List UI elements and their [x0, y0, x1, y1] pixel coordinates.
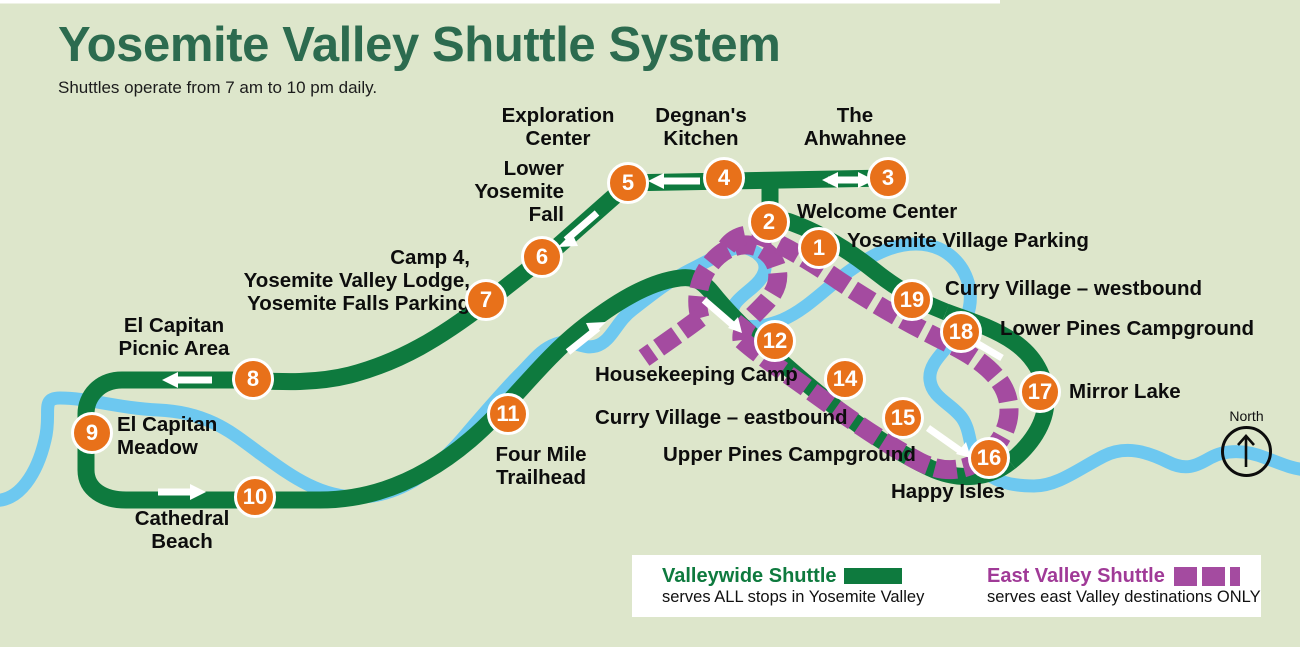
- legend-east-valley-swatch: [1174, 567, 1240, 586]
- legend-valleywide-title: Valleywide Shuttle: [662, 566, 837, 587]
- route-east-valley: [644, 235, 1009, 470]
- legend-east-valley-subtitle: serves east Valley destinations ONLY: [987, 588, 1257, 607]
- stop-marker-7[interactable]: 7: [465, 279, 507, 321]
- stop-label-2: Welcome Center: [797, 201, 957, 224]
- shuttle-map: Yosemite Valley Shuttle System Shuttles …: [0, 0, 1300, 647]
- stop-marker-4[interactable]: 4: [703, 157, 745, 199]
- stop-marker-3[interactable]: 3: [867, 157, 909, 199]
- stop-marker-2[interactable]: 2: [748, 201, 790, 243]
- stop-marker-5[interactable]: 5: [607, 162, 649, 204]
- legend-valleywide-subtitle: serves ALL stops in Yosemite Valley: [662, 588, 967, 607]
- stop-label-18: Lower Pines Campground: [1000, 318, 1254, 341]
- stop-label-3: The Ahwahnee: [796, 105, 914, 151]
- stop-marker-14[interactable]: 14: [824, 358, 866, 400]
- stop-marker-6[interactable]: 6: [521, 236, 563, 278]
- stop-label-5: Exploration Center: [489, 105, 627, 151]
- stop-marker-15[interactable]: 15: [882, 397, 924, 439]
- legend-valleywide-swatch: [844, 568, 902, 584]
- legend-item-valleywide: Valleywide Shuttle serves ALL stops in Y…: [662, 566, 967, 607]
- legend-item-east-valley: East Valley Shuttle serves east Valley d…: [987, 566, 1257, 607]
- page-title: Yosemite Valley Shuttle System: [58, 20, 780, 71]
- stop-label-7: Camp 4, Yosemite Valley Lodge, Yosemite …: [190, 247, 470, 316]
- stop-label-19: Curry Village – westbound: [945, 278, 1202, 301]
- stop-marker-9[interactable]: 9: [71, 412, 113, 454]
- stop-label-15: Upper Pines Campground: [663, 444, 916, 467]
- map-legend: Valleywide Shuttle serves ALL stops in Y…: [632, 555, 1261, 617]
- stop-label-17: Mirror Lake: [1069, 381, 1181, 404]
- stop-label-4: Degnan's Kitchen: [648, 105, 754, 151]
- compass-rose: North: [1221, 408, 1272, 477]
- stop-label-1: Yosemite Village Parking: [847, 230, 1089, 253]
- stop-label-9: El Capitan Meadow: [117, 414, 217, 460]
- stop-label-10: Cathedral Beach: [114, 508, 250, 554]
- stop-label-16: Happy Isles: [891, 481, 1005, 504]
- stop-marker-11[interactable]: 11: [487, 393, 529, 435]
- title-block: Yosemite Valley Shuttle System Shuttles …: [58, 20, 780, 98]
- stop-marker-12[interactable]: 12: [754, 320, 796, 362]
- stop-label-8: El Capitan Picnic Area: [104, 315, 244, 361]
- legend-east-valley-title: East Valley Shuttle: [987, 566, 1165, 587]
- stop-marker-10[interactable]: 10: [234, 476, 276, 518]
- stop-marker-8[interactable]: 8: [232, 358, 274, 400]
- stop-marker-16[interactable]: 16: [968, 437, 1010, 479]
- compass-label: North: [1221, 408, 1272, 424]
- stop-marker-1[interactable]: 1: [798, 227, 840, 269]
- stop-marker-18[interactable]: 18: [940, 311, 982, 353]
- page-subtitle: Shuttles operate from 7 am to 10 pm dail…: [58, 78, 780, 98]
- north-arrow-icon: [1221, 426, 1272, 477]
- stop-label-14: Curry Village – eastbound: [595, 407, 848, 430]
- stop-label-11: Four Mile Trailhead: [479, 444, 603, 490]
- stop-marker-19[interactable]: 19: [891, 279, 933, 321]
- stop-label-6: Lower Yosemite Fall: [449, 158, 564, 227]
- stop-marker-17[interactable]: 17: [1019, 371, 1061, 413]
- stop-label-12: Housekeeping Camp: [595, 364, 798, 387]
